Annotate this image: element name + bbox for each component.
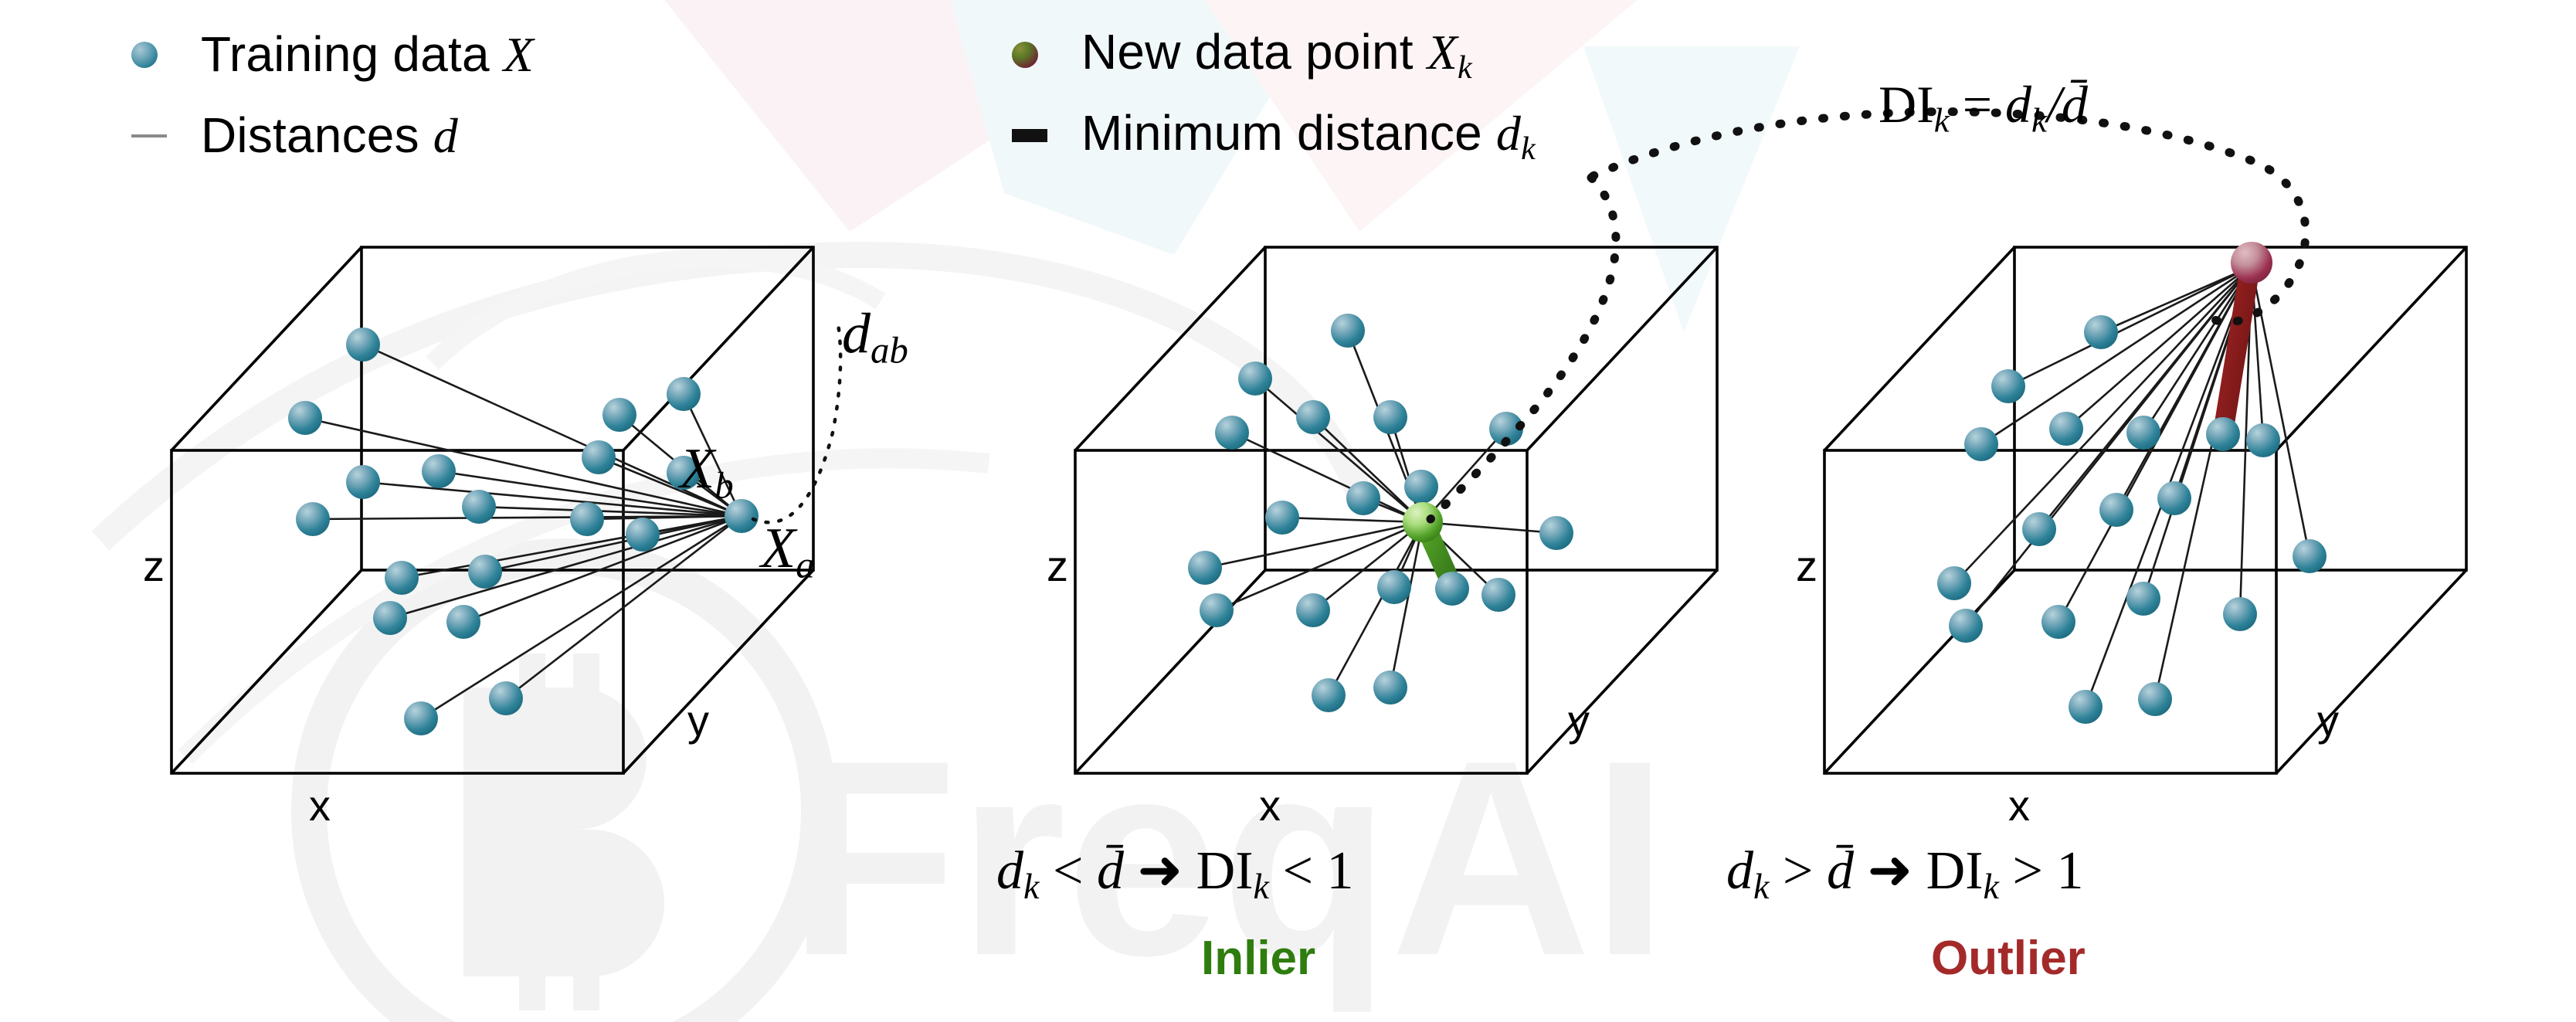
verdict-inlier: Inlier (1201, 931, 1315, 986)
axis-label-z-panel-2: z (1047, 541, 1068, 591)
axis-label-y-panel-1: y (687, 695, 709, 745)
new-data-point-outlier (2231, 242, 2272, 284)
caption-formula-inlier: dk < d̄ ➜ DIk < 1 (996, 838, 1354, 907)
axis-label-x-panel-3: x (2008, 780, 2030, 830)
training-points-2 (1188, 314, 1573, 712)
leader-d-ab (753, 324, 840, 522)
axis-label-x-panel-2: x (1259, 780, 1281, 830)
axis-label-x-panel-1: x (309, 780, 331, 830)
nearest-neighbour-outlier (2206, 417, 2240, 451)
di-formula-label: DIk = dk/d̄ (1879, 74, 2088, 141)
panel-training-cube (171, 247, 840, 773)
training-points-3 (1937, 315, 2327, 724)
label-x-b: Xb (680, 436, 734, 508)
axis-label-z-panel-3: z (1796, 541, 1817, 591)
caption-formula-outlier: dk > d̄ ➜ DIk > 1 (1726, 838, 2084, 907)
axis-label-z-panel-1: z (143, 541, 165, 591)
distance-lines-3 (1954, 267, 2310, 707)
axis-label-y-panel-2: y (1568, 695, 1590, 745)
new-data-point-inlier (1403, 502, 1443, 542)
label-x-a: Xa (761, 516, 815, 587)
d-ab-label: dab (842, 301, 908, 372)
verdict-outlier: Outlier (1931, 931, 2086, 986)
panel-inlier-cube (1075, 247, 1717, 773)
axis-label-y-panel-3: y (2317, 695, 2339, 745)
leader-dotted-dk-to-inlier (1431, 178, 1616, 519)
panel-outlier-cube (1824, 242, 2466, 773)
nearest-neighbour-inlier (1435, 572, 1469, 606)
